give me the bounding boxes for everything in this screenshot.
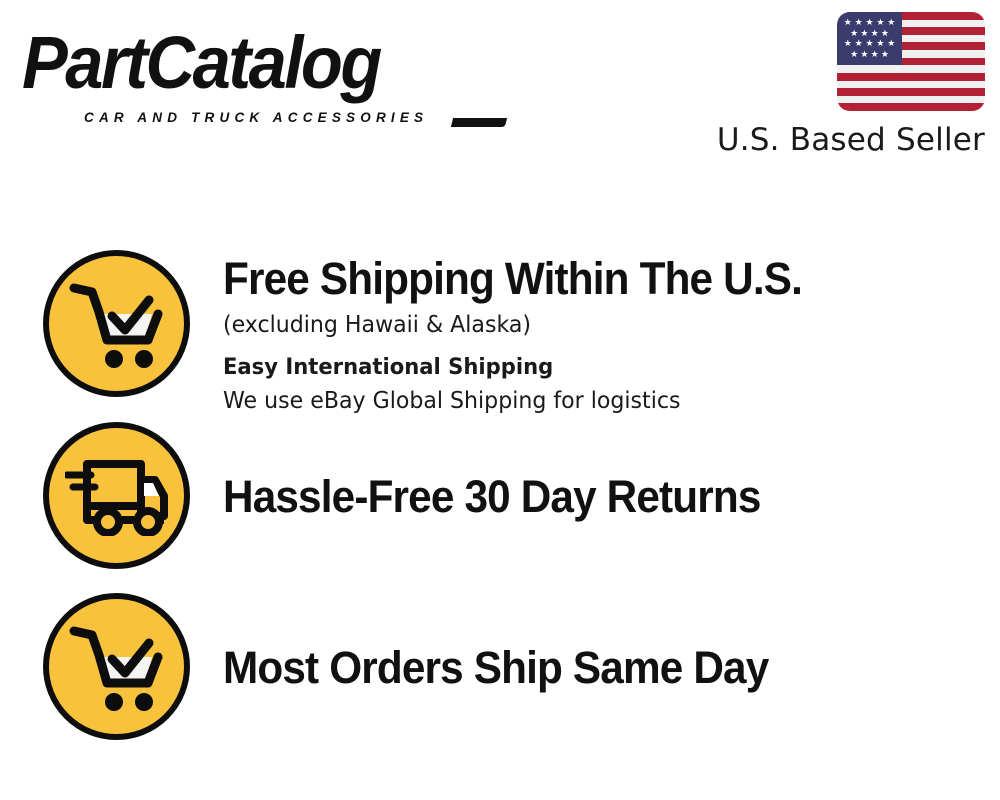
feature-text-block: Free Shipping Within The U.S. (excluding… [190,250,983,418]
feature-row: Free Shipping Within The U.S. (excluding… [43,250,983,418]
feature-row: Most Orders Ship Same Day [43,593,983,740]
brand-wordmark: PartCatalog [22,22,380,103]
us-based-seller-badge: ★★★★★ ★★★★ ★★★★★ ★★★★ U.S. Based Seller [715,12,985,158]
brand-logo[interactable]: PartCatalog CAR AND TRUCK ACCESSORIES [22,22,492,114]
brand-swash-decoration [451,118,507,127]
page-header: PartCatalog CAR AND TRUCK ACCESSORIES [0,0,1000,170]
feature-row: Hassle-Free 30 Day Returns [43,422,983,569]
feature-text-block: Most Orders Ship Same Day [190,593,983,693]
brand-tagline: CAR AND TRUCK ACCESSORIES [84,110,428,125]
feature-subtext-international-title: Easy International Shipping [223,351,953,384]
flag-stars: ★★★★★ ★★★★ ★★★★★ ★★★★ [837,12,902,65]
feature-heading: Hassle-Free 30 Day Returns [223,472,937,522]
feature-subtext-exclusions: (excluding Hawaii & Alaska) [223,309,953,342]
shopping-cart-check-icon [43,593,190,740]
feature-subtext-logistics: We use eBay Global Shipping for logistic… [223,385,953,418]
feature-heading: Most Orders Ship Same Day [223,643,937,693]
delivery-truck-icon [43,422,190,569]
shopping-cart-check-icon [43,250,190,397]
us-flag-icon: ★★★★★ ★★★★ ★★★★★ ★★★★ [837,12,985,111]
feature-heading: Free Shipping Within The U.S. [223,254,937,304]
us-based-seller-label: U.S. Based Seller [715,122,985,158]
feature-text-block: Hassle-Free 30 Day Returns [190,422,983,522]
flag-canton: ★★★★★ ★★★★ ★★★★★ ★★★★ [837,12,902,65]
